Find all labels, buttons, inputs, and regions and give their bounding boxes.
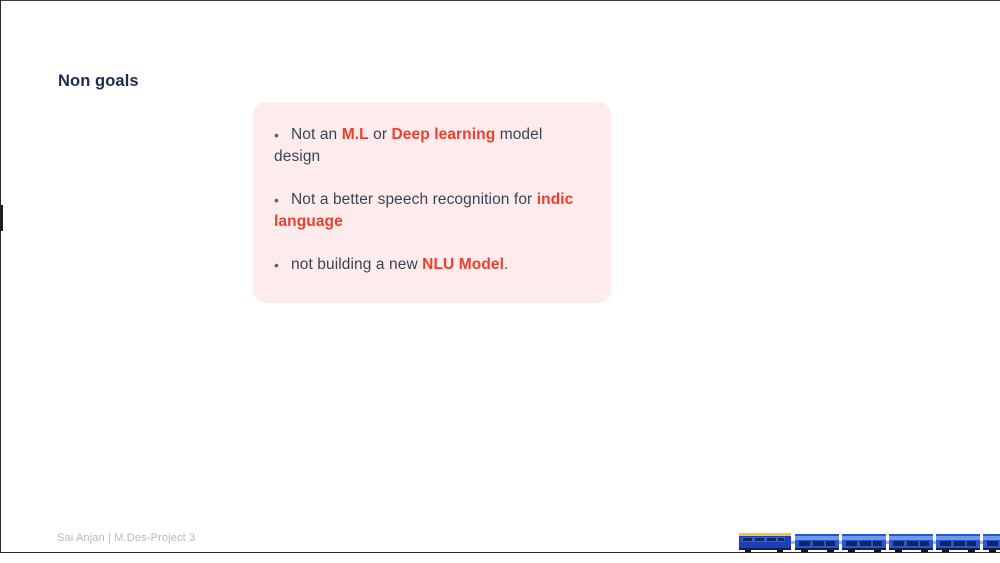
bullet-segment: Not a better speech recognition for (291, 191, 537, 208)
bullet-segment-highlight: NLU Model (422, 256, 504, 273)
list-item-text: not building a new NLU Model. (291, 256, 508, 273)
train-coach (983, 534, 1000, 552)
list-item-text: Not an M.L or Deep learning model design (274, 126, 542, 165)
footer-credit: Sai Anjan | M.Des-Project 3 (57, 532, 195, 544)
bullet-segment-highlight: M.L (342, 126, 369, 143)
slide-left-edge (0, 0, 1, 553)
train-coupling (839, 541, 842, 544)
bullet-icon: • (274, 124, 291, 146)
list-item: •Not a better speech recognition for ind… (274, 189, 587, 233)
bullet-segment: Not an (291, 126, 342, 143)
page-title: Non goals (58, 72, 139, 91)
slide-top-edge (0, 0, 1000, 1)
bullet-segment: not building a new (291, 256, 422, 273)
bullet-segment: or (369, 126, 392, 143)
bullet-segment-highlight: Deep learning (391, 126, 495, 143)
train-coupling (886, 541, 889, 544)
train-coupling (791, 541, 795, 544)
train-coupling (980, 541, 983, 544)
bullet-segment: . (504, 256, 508, 273)
train-coach (842, 534, 886, 552)
train-illustration (737, 529, 1000, 553)
slide-left-edge-mark (0, 205, 3, 231)
train-coach (889, 534, 933, 552)
train-coupling (933, 541, 936, 544)
list-item-text: Not a better speech recognition for indi… (274, 191, 573, 230)
train-locomotive (739, 533, 791, 552)
list-item: •Not an M.L or Deep learning model desig… (274, 124, 587, 168)
train-coach (936, 534, 980, 552)
train-coach (795, 534, 839, 552)
non-goals-card: •Not an M.L or Deep learning model desig… (253, 102, 611, 303)
bullet-icon: • (274, 254, 291, 276)
list-item: •not building a new NLU Model. (274, 254, 587, 276)
bullet-icon: • (274, 189, 291, 211)
slide-canvas: Non goals •Not an M.L or Deep learning m… (0, 0, 1000, 563)
